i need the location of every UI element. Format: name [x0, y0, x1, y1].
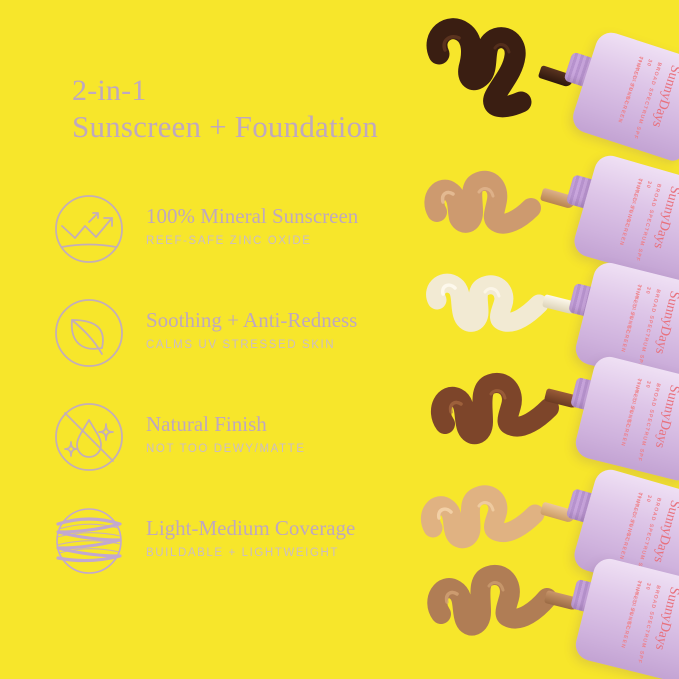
product-shade-item: SunnyDays BROAD SPECTRUM SPF 30TINTED SU… [419, 538, 679, 679]
feature-title: Natural Finish [146, 412, 306, 436]
coverage-sphere-icon [50, 502, 128, 580]
product-shade-column: SunnyDays BROAD SPECTRUM SPF 30TINTED SU… [419, 0, 679, 679]
feature-subtitle: NOT TOO DEWY/MATTE [146, 443, 306, 455]
product-tube: SunnyDays BROAD SPECTRUM SPF 30TINTED SU… [572, 556, 679, 679]
shade-swatch-warm-caramel [425, 542, 565, 652]
feature-list: 100% Mineral Sunscreen REEF-SAFE ZINC OX… [50, 188, 480, 604]
feature-item: Light-Medium Coverage BUILDABLE + LIGHTW… [50, 500, 480, 604]
tube-label: SunnyDays BROAD SPECTRUM SPF 30TINTED SU… [584, 564, 679, 674]
feature-subtitle: CALMS UV STRESSED SKIN [146, 339, 357, 351]
feature-title: Light-Medium Coverage [146, 516, 355, 540]
leaf-icon [50, 294, 128, 372]
feature-subtitle: BUILDABLE + LIGHTWEIGHT [146, 547, 355, 559]
shade-swatch-medium-tan [419, 150, 559, 250]
shade-swatch-rich-brown [429, 350, 569, 460]
feature-subtitle: REEF-SAFE ZINC OXIDE [146, 235, 358, 247]
feature-item: Natural Finish NOT TOO DEWY/MATTE [50, 396, 480, 500]
no-dewy-droplet-icon [50, 398, 128, 476]
feature-title: 100% Mineral Sunscreen [146, 204, 358, 228]
feature-item: 100% Mineral Sunscreen REEF-SAFE ZINC OX… [50, 188, 480, 292]
feature-title: Soothing + Anti-Redness [146, 308, 357, 332]
shade-swatch-deep-espresso [425, 14, 555, 124]
product-poster: 2-in-1 Sunscreen + Foundation 100% Miner… [0, 0, 679, 679]
feature-item: Soothing + Anti-Redness CALMS UV STRESSE… [50, 292, 480, 396]
uv-deflect-icon [50, 190, 128, 268]
